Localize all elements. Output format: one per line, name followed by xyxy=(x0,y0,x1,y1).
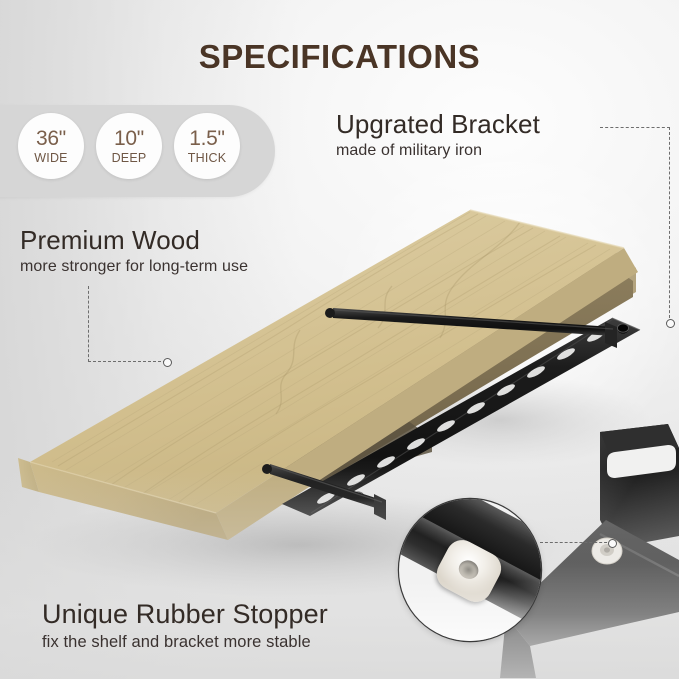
callout-subtitle: more stronger for long-term use xyxy=(20,258,248,276)
dimension-value: 36" xyxy=(36,128,66,149)
product-illustration xyxy=(0,0,679,679)
specifications-infographic: SPECIFICATIONS 36" WIDE 10" DEEP 1.5" TH… xyxy=(0,0,679,679)
dimension-badge-thick: 1.5" THICK xyxy=(174,113,240,179)
leader-line-bracket-horizontal xyxy=(600,127,670,128)
background-glow xyxy=(330,140,679,470)
leader-dot-wood xyxy=(163,358,172,367)
dimension-value: 10" xyxy=(114,128,144,149)
dimension-label: WIDE xyxy=(34,152,67,165)
dimension-label: THICK xyxy=(188,152,227,165)
callout-rubber-stopper: Unique Rubber Stopper fix the shelf and … xyxy=(42,600,328,652)
callout-title: Upgrated Bracket xyxy=(336,110,540,139)
support-rods xyxy=(262,308,617,520)
dimension-label: DEEP xyxy=(112,152,147,165)
dimension-badge-wide: 36" WIDE xyxy=(18,113,84,179)
leader-dot-stopper xyxy=(608,539,617,548)
background-shading-left xyxy=(0,0,300,679)
leader-line-stopper-horizontal xyxy=(540,542,612,543)
callout-subtitle: fix the shelf and bracket more stable xyxy=(42,633,328,652)
magnifier-light-falloff xyxy=(399,581,541,641)
callout-title: Premium Wood xyxy=(20,226,248,255)
callout-title: Unique Rubber Stopper xyxy=(42,600,328,630)
leader-line-bracket-vertical xyxy=(669,127,670,323)
callout-subtitle: made of military iron xyxy=(336,142,540,160)
dimensions-badge-row: 36" WIDE 10" DEEP 1.5" THICK xyxy=(18,113,240,179)
callout-upgraded-bracket: Upgrated Bracket made of military iron xyxy=(336,110,540,160)
dimension-value: 1.5" xyxy=(189,128,224,149)
callout-premium-wood: Premium Wood more stronger for long-term… xyxy=(20,226,248,276)
leader-line-wood-horizontal xyxy=(88,361,166,362)
bracket-rail xyxy=(282,318,640,516)
leader-dot-bracket xyxy=(666,319,675,328)
magnifier-inset-rubber-stopper xyxy=(399,499,541,641)
leader-line-wood-vertical xyxy=(88,286,89,362)
dimension-badge-deep: 10" DEEP xyxy=(96,113,162,179)
page-title: SPECIFICATIONS xyxy=(0,38,679,76)
